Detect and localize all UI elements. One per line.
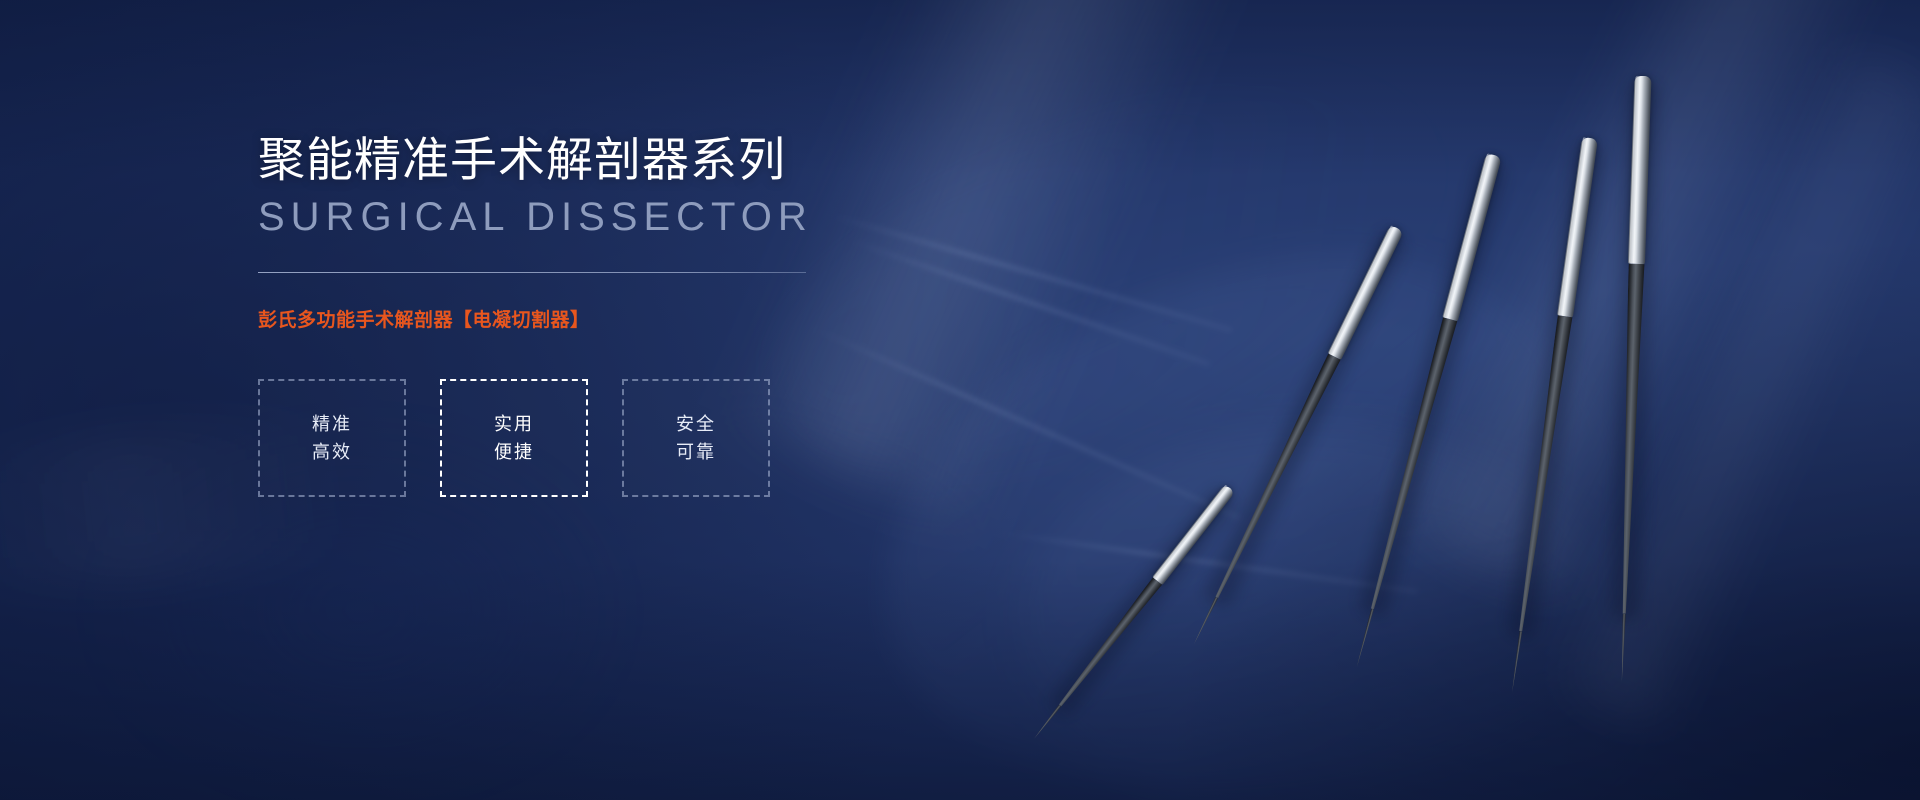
product-name-label: 彭氏多功能手术解剖器【电凝切割器】 xyxy=(258,305,898,332)
page-subtitle-english: SURGICAL DISSECTOR xyxy=(258,194,898,240)
feature-box-safety[interactable]: 安全 可靠 xyxy=(622,379,770,497)
feature-line-2: 可靠 xyxy=(676,443,716,461)
feature-box-precision[interactable]: 精准 高效 xyxy=(258,379,406,497)
title-divider xyxy=(258,272,806,273)
product-banner: 聚能精准手术解剖器系列 SURGICAL DISSECTOR 彭氏多功能手术解剖… xyxy=(0,0,1920,800)
feature-box-practical[interactable]: 实用 便捷 xyxy=(440,379,588,497)
feature-line-1: 精准 xyxy=(312,415,352,433)
feature-box-list: 精准 高效 实用 便捷 安全 可靠 xyxy=(258,379,898,497)
feature-line-1: 安全 xyxy=(676,415,716,433)
feature-line-2: 高效 xyxy=(312,443,352,461)
feature-line-1: 实用 xyxy=(494,415,534,433)
banner-content: 聚能精准手术解剖器系列 SURGICAL DISSECTOR 彭氏多功能手术解剖… xyxy=(258,132,898,497)
page-title: 聚能精准手术解剖器系列 xyxy=(258,132,898,188)
feature-line-2: 便捷 xyxy=(494,443,534,461)
